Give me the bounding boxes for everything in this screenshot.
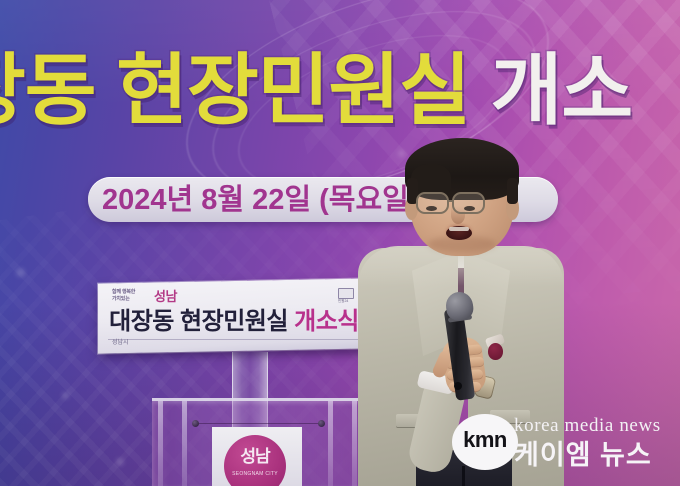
boutonniere-petal <box>488 343 503 360</box>
watermark-badge-text: kmn <box>452 428 518 452</box>
bokeh-dot <box>16 268 25 277</box>
watermark-english-name: korea media news <box>514 414 661 437</box>
sign-footer-rule: 성남시 <box>108 339 360 348</box>
sign-qr-caption: 민원24 <box>338 299 348 304</box>
sign-city-logo: 함께 행복한 가치있는 성남 <box>112 287 192 306</box>
podium-hanging-wire <box>192 423 324 424</box>
sign-logo-line2: 가치있는 <box>112 296 130 302</box>
sign-title-main: 대장동 현장민원실 <box>109 308 288 335</box>
podium-highlight-streak <box>182 401 187 486</box>
bokeh-dot <box>62 392 69 399</box>
watermark: kmn korea media news 케이엠 뉴스 <box>452 404 680 486</box>
speaker-hair <box>405 138 519 200</box>
podium-emblem-card: 성남 SEONGNAM CITY <box>212 427 302 486</box>
sign-logo-city-name: 성남 <box>154 289 177 304</box>
podium-emblem-glyph: 성남 <box>224 448 286 465</box>
eyeglasses-lens-left <box>416 192 449 214</box>
podium-highlight-streak <box>158 401 163 486</box>
event-sign-board: 함께 행복한 가치있는 성남 민원24 대장동 현장민원실 개소식 성남시 <box>98 278 370 353</box>
eyeglasses-bridge <box>449 200 454 202</box>
headline-segment-yellow: 장동 현장민원실 <box>0 36 470 144</box>
sign-footer-text: 성남시 <box>112 339 129 347</box>
sideburn-right <box>507 178 518 204</box>
podium-emblem-subtext: SEONGNAM CITY <box>224 471 286 478</box>
photo-canvas: 장동 현장민원실 개소 2024년 8월 22일 (목요일) 0시 성남 SEO… <box>0 0 680 486</box>
watermark-korean-name: 케이엠 뉴스 <box>514 438 652 472</box>
bokeh-dot <box>116 458 124 466</box>
headline-segment-white: 개소 <box>491 36 633 144</box>
podium-highlight-streak <box>328 401 333 486</box>
banner-headline: 장동 현장민원실 개소 <box>0 36 680 144</box>
podium-front-panel: 성남 SEONGNAM CITY <box>152 398 364 486</box>
eyeglasses-lens-right <box>452 192 485 214</box>
podium-screw <box>192 420 199 427</box>
sign-title: 대장동 현장민원실 개소식 <box>98 307 370 337</box>
sign-title-accent: 개소식 <box>294 308 359 335</box>
sign-logo-line1: 함께 행복한 <box>112 289 135 295</box>
podium-screw <box>318 420 325 427</box>
teeth <box>449 227 469 231</box>
seongnam-emblem-icon: 성남 SEONGNAM CITY <box>224 435 286 486</box>
boutonniere-icon <box>486 336 505 362</box>
